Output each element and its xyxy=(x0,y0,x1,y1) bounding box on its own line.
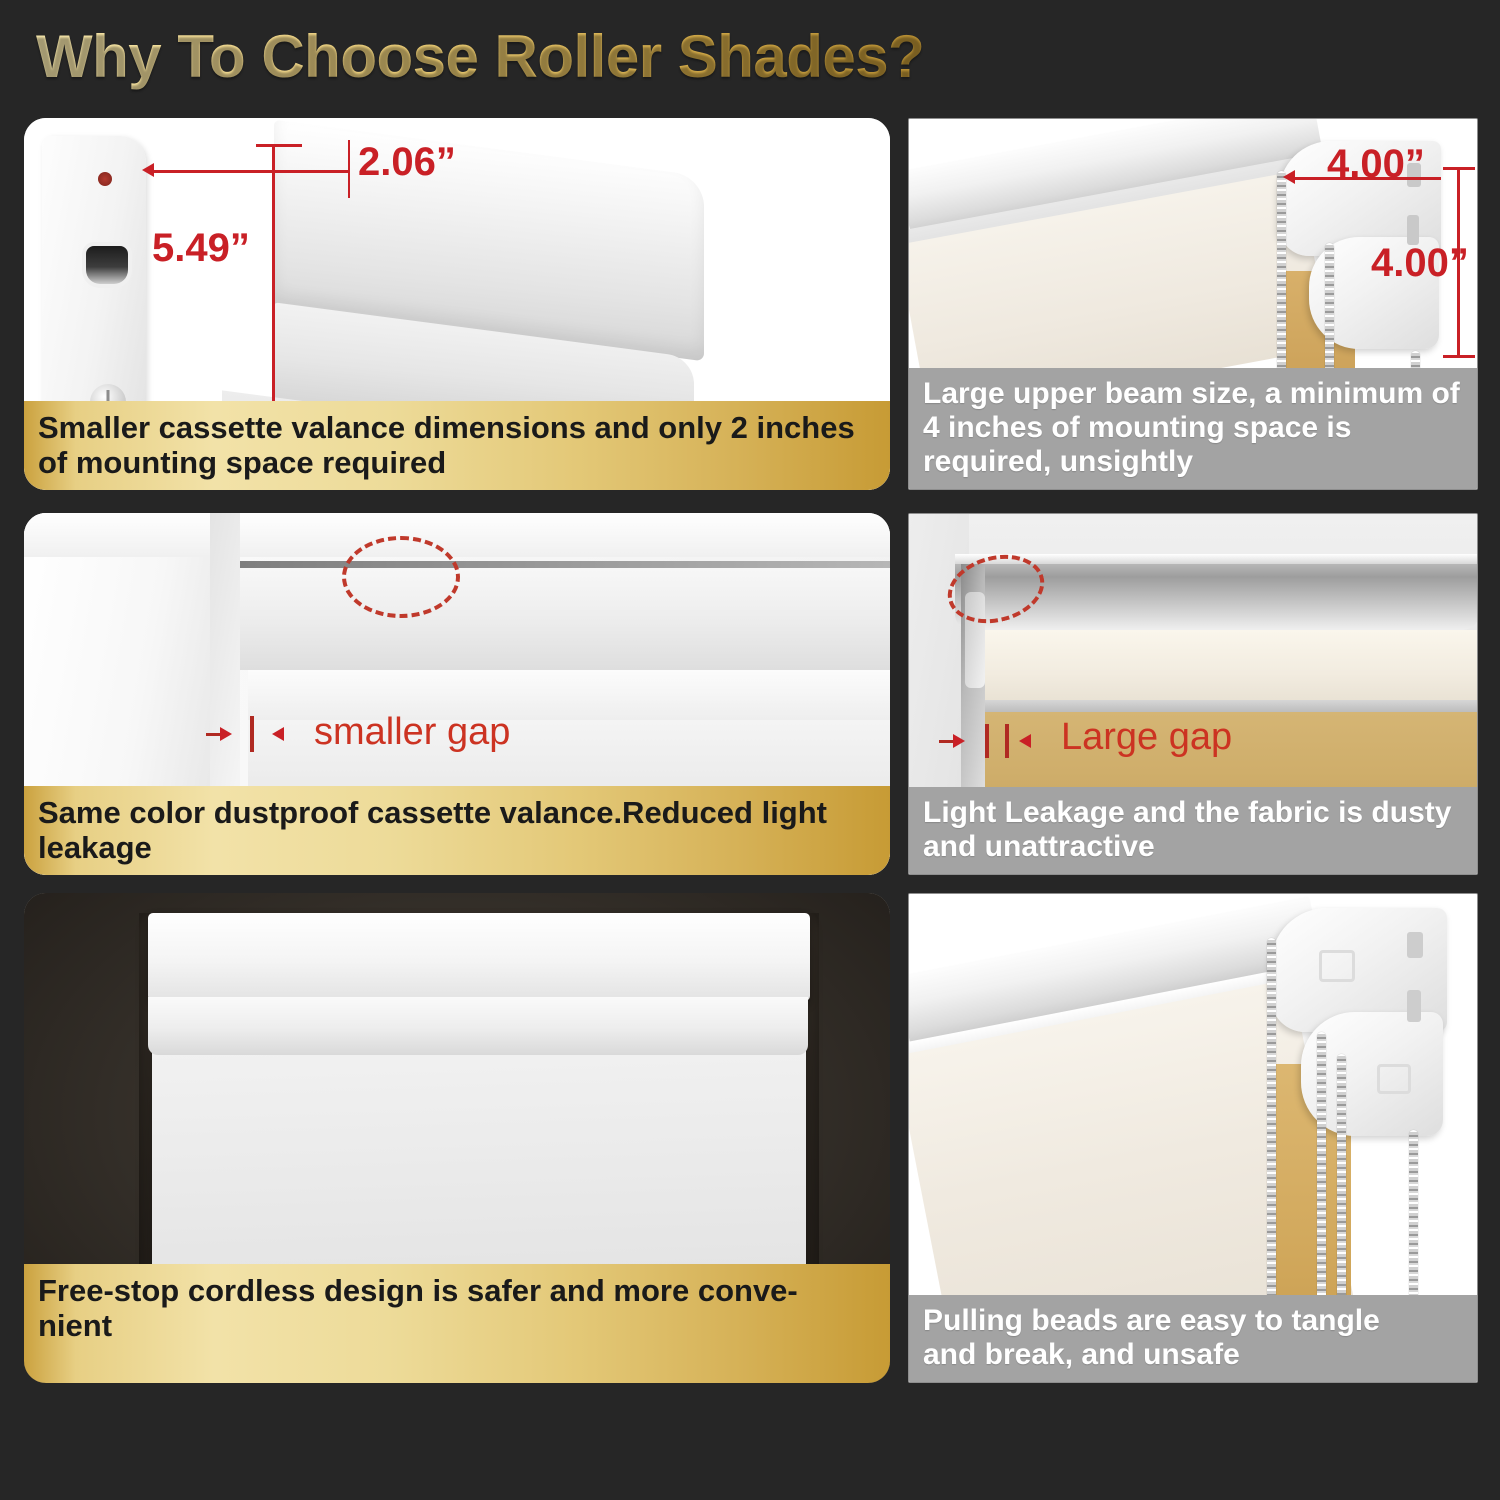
caption-line-1: Pulling beads are easy to tangle xyxy=(923,1304,1463,1338)
panel-caption: Smaller cassette valance dimensions and … xyxy=(24,401,890,490)
panel-caption: Free-stop cordless design is safer and m… xyxy=(24,1264,890,1383)
comparison-grid: 2.06” 5.49” Smaller cassette valance dim… xyxy=(0,0,1500,1500)
panel-caption: Pulling beads are easy to tangle and bre… xyxy=(909,1295,1477,1382)
end-cap-slot xyxy=(86,246,128,284)
panel-cassette-dimensions: 2.06” 5.49” Smaller cassette valance dim… xyxy=(24,118,890,490)
shade-fabric-divider xyxy=(971,700,1477,712)
caption-line-2: nient xyxy=(38,1308,876,1343)
end-cap-dot xyxy=(98,172,112,186)
height-tick-top xyxy=(256,144,302,147)
height-tick-bottom xyxy=(1443,355,1475,358)
bracket-notch-top xyxy=(1407,932,1423,958)
cassette-valance xyxy=(148,913,810,1001)
caption-line-1: Free-stop cordless design is safer and m… xyxy=(38,1273,876,1308)
panel-pulling-beads: Pulling beads are easy to tangle and bre… xyxy=(908,893,1478,1383)
shade-top-rail xyxy=(240,561,890,568)
gap-label: Large gap xyxy=(1061,716,1232,759)
valance-lip xyxy=(148,997,808,1055)
window-frame-top xyxy=(24,513,890,557)
bracket-emblem-lower xyxy=(1377,1064,1411,1094)
bracket-emblem-upper xyxy=(1319,950,1355,982)
gap-label: smaller gap xyxy=(314,711,510,754)
width-tick-right xyxy=(348,140,350,198)
caption-line-2: and break, and unsafe xyxy=(923,1338,1463,1372)
infographic-page: Why To Choose Roller Shades? 2.06” xyxy=(0,0,1500,1500)
height-dimension-label: 5.49” xyxy=(152,226,250,271)
gap-arrow-left xyxy=(953,734,965,748)
shade-fabric-cream xyxy=(977,630,1477,702)
panel-large-gap: Large gap Light Leakage and the fabric i… xyxy=(908,513,1478,875)
shade-valance xyxy=(240,565,890,670)
bracket-notch-bottom xyxy=(1407,990,1421,1022)
panel-caption: Large upper beam size, a minimum of 4 in… xyxy=(909,368,1477,489)
width-dimension-label: 2.06” xyxy=(358,140,456,185)
width-dimension-label: 4.00” xyxy=(1327,142,1425,187)
panel-large-beam: 4.00” 4.00” Large upper beam size, a min… xyxy=(908,118,1478,490)
width-dimension-line xyxy=(148,170,348,173)
gap-measure-bar xyxy=(250,716,254,752)
panel-caption: Same color dustproof cassette valance.Re… xyxy=(24,786,890,875)
height-dimension-label: 4.00” xyxy=(1371,241,1469,286)
width-arrow-left xyxy=(142,163,154,177)
panel-caption: Light Leakage and the fabric is dusty an… xyxy=(909,787,1477,874)
gap-measure-bar-right xyxy=(1005,724,1009,758)
height-tick-top xyxy=(1443,167,1475,170)
panel-smaller-gap: smaller gap Same color dustproof cassett… xyxy=(24,513,890,875)
gap-arrow-left xyxy=(220,727,232,741)
panel-cordless-design: Free-stop cordless design is safer and m… xyxy=(24,893,890,1383)
gap-measure-bar-left xyxy=(985,724,989,758)
gap-arrow-right xyxy=(272,727,284,741)
width-arrow-left xyxy=(1283,170,1295,184)
gap-highlight-ellipse xyxy=(342,536,460,618)
gap-arrow-right xyxy=(1019,734,1031,748)
